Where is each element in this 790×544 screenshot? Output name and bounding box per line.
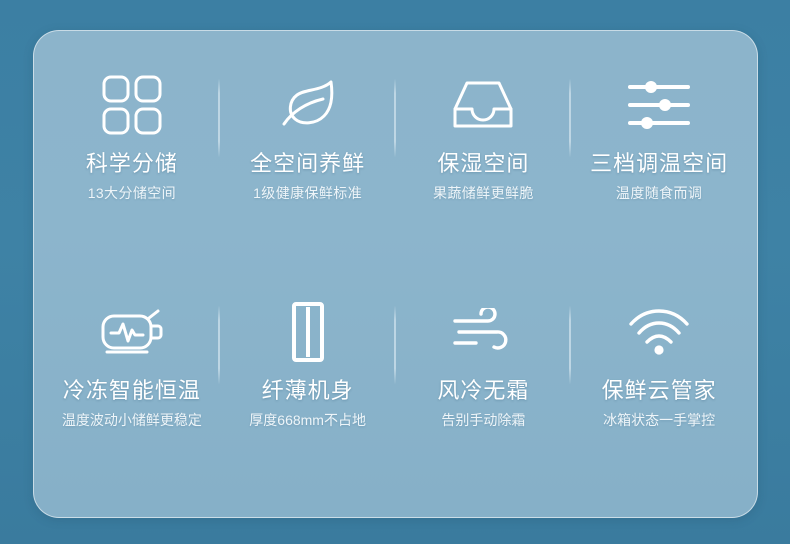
crisper-tray-icon — [452, 73, 514, 137]
feature-title: 保湿空间 — [437, 151, 529, 176]
feature-title: 三档调温空间 — [590, 151, 728, 176]
feature-subtitle: 厚度668mm不占地 — [249, 412, 366, 429]
wifi-icon — [628, 300, 690, 364]
feature-subtitle: 告别手动除霜 — [441, 412, 525, 429]
feature-title: 风冷无霜 — [437, 378, 529, 403]
feature-subtitle: 13大分储空间 — [88, 185, 176, 202]
feature-card: 科学分储 13大分储空间 全空间养鲜 1级健康保鲜标准 保湿空间 果蔬储鲜更鲜脆 — [33, 30, 758, 518]
wind-icon — [451, 300, 515, 364]
feature-title: 保鲜云管家 — [602, 378, 717, 403]
feature-cell-frost-free[interactable]: 风冷无霜 告别手动除霜 — [396, 272, 572, 499]
feature-title: 冷冻智能恒温 — [63, 378, 201, 403]
slim-fridge-icon — [291, 300, 325, 364]
feature-cell-humidity-zone[interactable]: 保湿空间 果蔬储鲜更鲜脆 — [396, 45, 572, 272]
feature-cell-full-space-freshness[interactable]: 全空间养鲜 1级健康保鲜标准 — [220, 45, 396, 272]
feature-title: 科学分储 — [86, 151, 178, 176]
feature-cell-freezer-constant-temp[interactable]: 冷冻智能恒温 温度波动小储鲜更稳定 — [44, 272, 220, 499]
feature-subtitle: 果蔬储鲜更鲜脆 — [433, 185, 534, 202]
feature-subtitle: 冰箱状态一手掌控 — [603, 412, 715, 429]
feature-cell-cloud-butler[interactable]: 保鲜云管家 冰箱状态一手掌控 — [571, 272, 747, 499]
feature-title: 纤薄机身 — [262, 378, 354, 403]
feature-cell-three-temp-zone[interactable]: 三档调温空间 温度随食而调 — [571, 45, 747, 272]
feature-grid: 科学分储 13大分储空间 全空间养鲜 1级健康保鲜标准 保湿空间 果蔬储鲜更鲜脆 — [34, 31, 757, 517]
feature-subtitle: 1级健康保鲜标准 — [253, 185, 362, 202]
feature-cell-slim-body[interactable]: 纤薄机身 厚度668mm不占地 — [220, 272, 396, 499]
feature-title: 全空间养鲜 — [250, 151, 365, 176]
feature-subtitle: 温度随食而调 — [616, 185, 702, 202]
four-squares-icon — [101, 73, 163, 137]
feature-subtitle: 温度波动小储鲜更稳定 — [62, 412, 202, 429]
thermostat-pulse-icon — [99, 300, 165, 364]
sliders-icon — [627, 73, 691, 137]
leaf-icon — [276, 73, 340, 137]
feature-cell-science-storage[interactable]: 科学分储 13大分储空间 — [44, 45, 220, 272]
